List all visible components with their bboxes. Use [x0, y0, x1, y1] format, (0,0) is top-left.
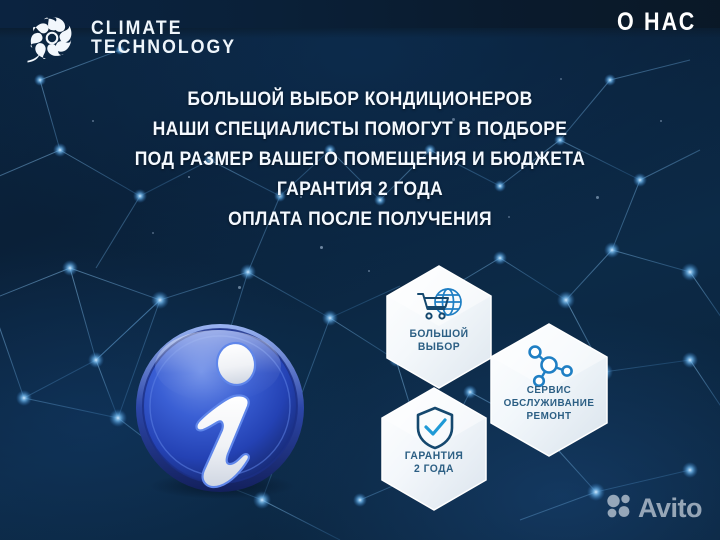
badge-service-repair[interactable]: СЕРВИС ОБСЛУЖИВАНИЕ РЕМОНТ: [487, 322, 611, 458]
headline-line-3: ПОД РАЗМЕР ВАШЕГО ПОМЕЩЕНИЯ И БЮДЖЕТА: [36, 144, 684, 174]
badge-label-warranty: ГАРАНТИЯ 2 ГОДА: [381, 450, 486, 477]
fan-swirl-logo-icon: [24, 10, 80, 66]
brand-name-line2: TECHNOLOGY: [91, 38, 236, 57]
headline-block: БОЛЬШОЙ ВЫБОР КОНДИЦИОНЕРОВ НАШИ СПЕЦИАЛ…: [0, 84, 720, 234]
shield-check-icon: [415, 406, 455, 450]
headline-line-5: ОПЛАТА ПОСЛЕ ПОЛУЧЕНИЯ: [36, 204, 684, 234]
badge-label-service-repair: СЕРВИС ОБСЛУЖИВАНИЕ РЕМОНТ: [491, 384, 608, 422]
headline-line-4: ГАРАНТИЯ 2 ГОДА: [36, 174, 684, 204]
page-title: О НАС: [617, 8, 696, 37]
headline-line-2: НАШИ СПЕЦИАЛИСТЫ ПОМОГУТ В ПОДБОРЕ: [36, 114, 684, 144]
avito-watermark: Avito: [606, 493, 702, 524]
avito-wordmark: Avito: [638, 493, 702, 524]
badge-label-big-choice: БОЛЬШОЙ ВЫБОР: [386, 328, 491, 355]
badge-big-choice[interactable]: БОЛЬШОЙ ВЫБОР: [383, 264, 495, 390]
network-nodes-icon: [523, 342, 575, 388]
brand-name-line1: CLIMATE: [91, 19, 236, 38]
avito-dots-icon: [606, 493, 632, 524]
info-orb: [130, 320, 310, 500]
brand-logo[interactable]: CLIMATE TECHNOLOGY: [24, 10, 247, 66]
promo-banner: CLIMATE TECHNOLOGY О НАС БОЛЬШОЙ ВЫБОР К…: [0, 0, 720, 540]
badge-warranty[interactable]: ГАРАНТИЯ 2 ГОДА: [378, 386, 490, 512]
network-background: [0, 0, 720, 540]
cart-globe-icon: [416, 286, 464, 324]
headline-line-1: БОЛЬШОЙ ВЫБОР КОНДИЦИОНЕРОВ: [36, 84, 684, 114]
